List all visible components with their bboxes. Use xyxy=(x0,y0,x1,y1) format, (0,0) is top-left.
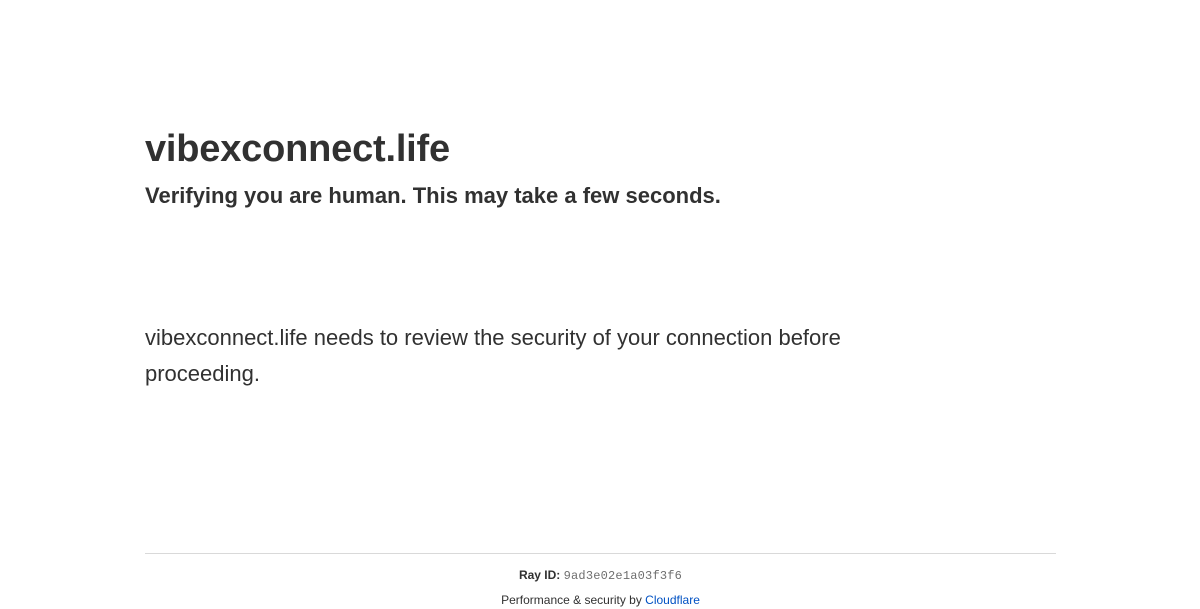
challenge-description: vibexconnect.life needs to review the se… xyxy=(145,320,945,392)
content-wrapper: vibexconnect.life Verifying you are huma… xyxy=(145,0,1056,600)
credit-prefix: Performance & security by xyxy=(501,593,642,607)
ray-id-line: Ray ID: 9ad3e02e1a03f3f6 xyxy=(145,566,1056,585)
ray-id-value: 9ad3e02e1a03f3f6 xyxy=(564,569,682,583)
challenge-widget-container[interactable] xyxy=(145,224,1056,320)
footer: Ray ID: 9ad3e02e1a03f3f6 Performance & s… xyxy=(145,553,1056,609)
cloudflare-link[interactable]: Cloudflare xyxy=(645,593,700,607)
challenge-main: vibexconnect.life Verifying you are huma… xyxy=(145,0,1056,392)
verification-status-text: Verifying you are human. This may take a… xyxy=(145,171,1056,210)
ray-id-label: Ray ID: xyxy=(519,568,560,582)
challenge-page: vibexconnect.life Verifying you are huma… xyxy=(0,0,1200,600)
page-title: vibexconnect.life xyxy=(145,127,1056,171)
credit-line: Performance & security by Cloudflare xyxy=(145,585,1056,609)
